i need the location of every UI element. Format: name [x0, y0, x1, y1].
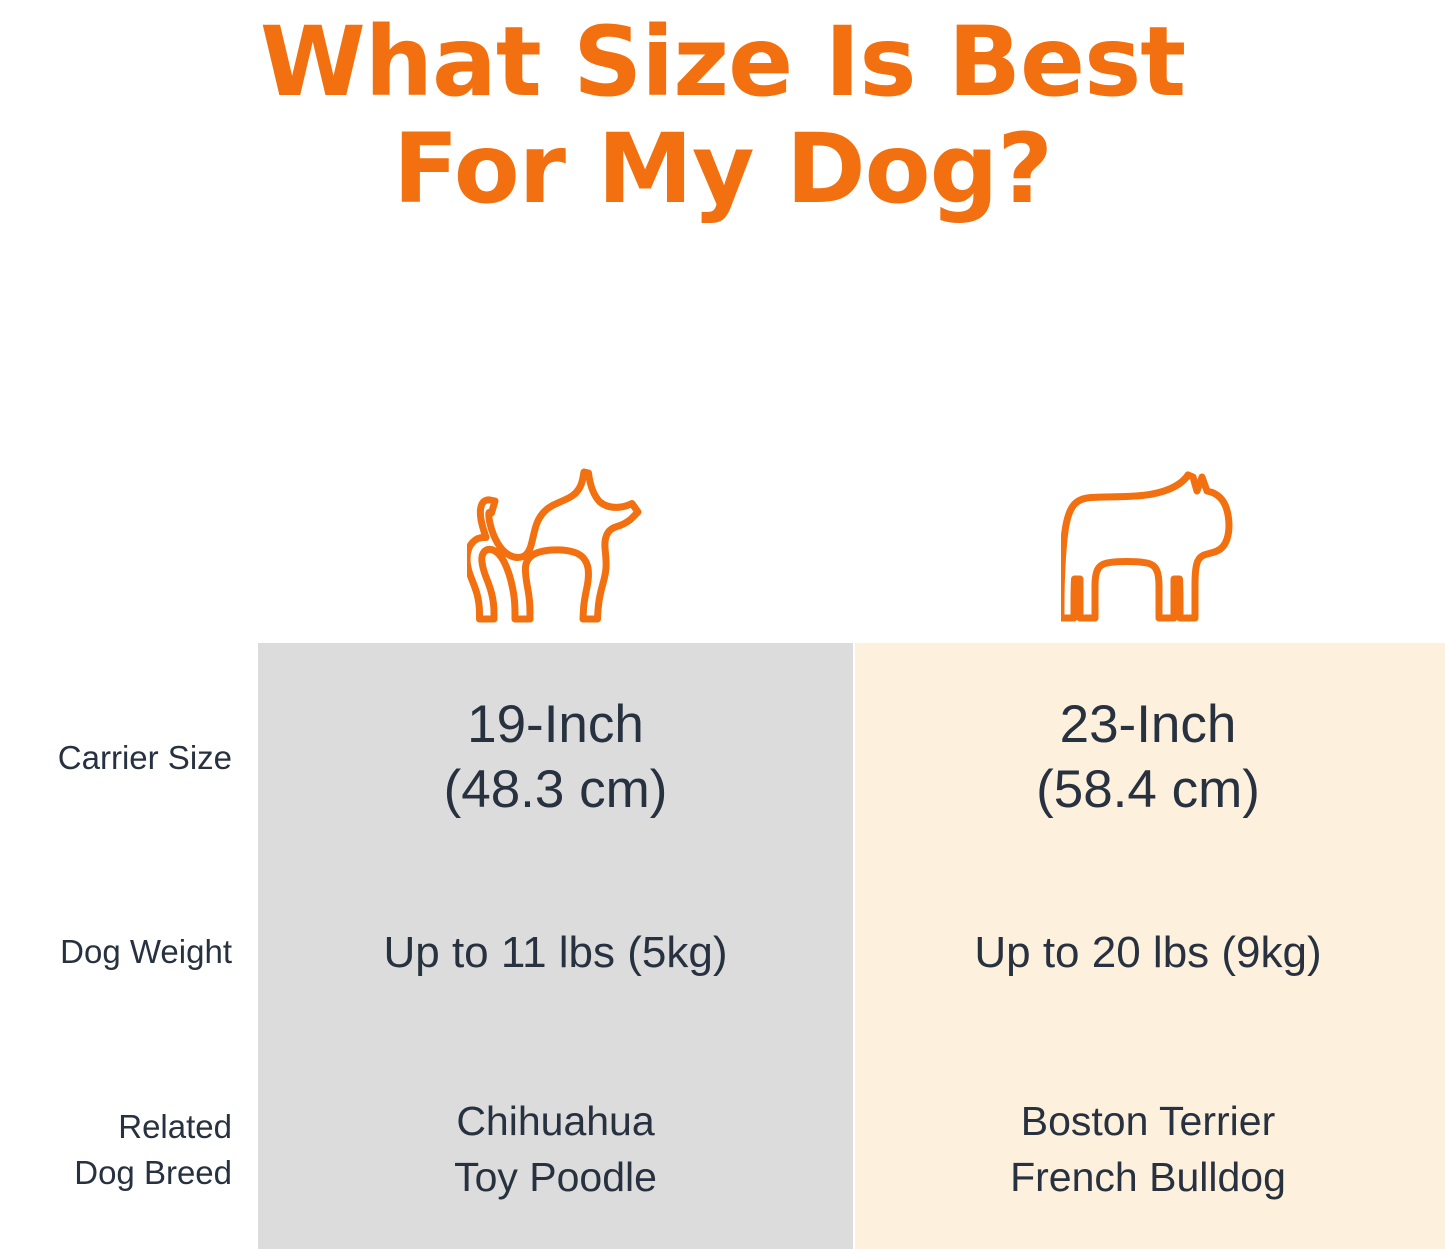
- table-row-dog-breed: Related Dog Breed Chihuahua Toy Poodle B…: [0, 1085, 1445, 1215]
- row-label-carrier-size: Carrier Size: [0, 736, 258, 781]
- page-title-line-1: What Size Is Best: [0, 6, 1445, 119]
- french-bulldog-icon: [1061, 469, 1239, 627]
- column-icon-large-wrap: [855, 462, 1445, 627]
- cell-dog-breed-small: Chihuahua Toy Poodle: [258, 1094, 853, 1206]
- cell-dog-breed-large: Boston Terrier French Bulldog: [853, 1094, 1443, 1206]
- table-row-carrier-size: Carrier Size 19-Inch (48.3 cm) 23-Inch (…: [0, 678, 1445, 838]
- cell-carrier-size-small: 19-Inch (48.3 cm): [258, 693, 853, 822]
- chihuahua-dog-icon: [467, 467, 645, 627]
- row-label-dog-weight: Dog Weight: [0, 930, 258, 975]
- column-icon-small-wrap: [258, 462, 853, 627]
- row-label-dog-breed: Related Dog Breed: [0, 1104, 258, 1195]
- table-row-dog-weight: Dog Weight Up to 11 lbs (5kg) Up to 20 l…: [0, 900, 1445, 1005]
- page-title: What Size Is Best For My Dog?: [0, 6, 1445, 227]
- cell-dog-weight-large: Up to 20 lbs (9kg): [853, 925, 1443, 980]
- cell-carrier-size-large: 23-Inch (58.4 cm): [853, 693, 1443, 822]
- cell-dog-weight-small: Up to 11 lbs (5kg): [258, 925, 853, 980]
- infographic-root: What Size Is Best For My Dog? Carrier Si…: [0, 0, 1445, 1249]
- page-title-line-2: For My Dog?: [0, 113, 1445, 226]
